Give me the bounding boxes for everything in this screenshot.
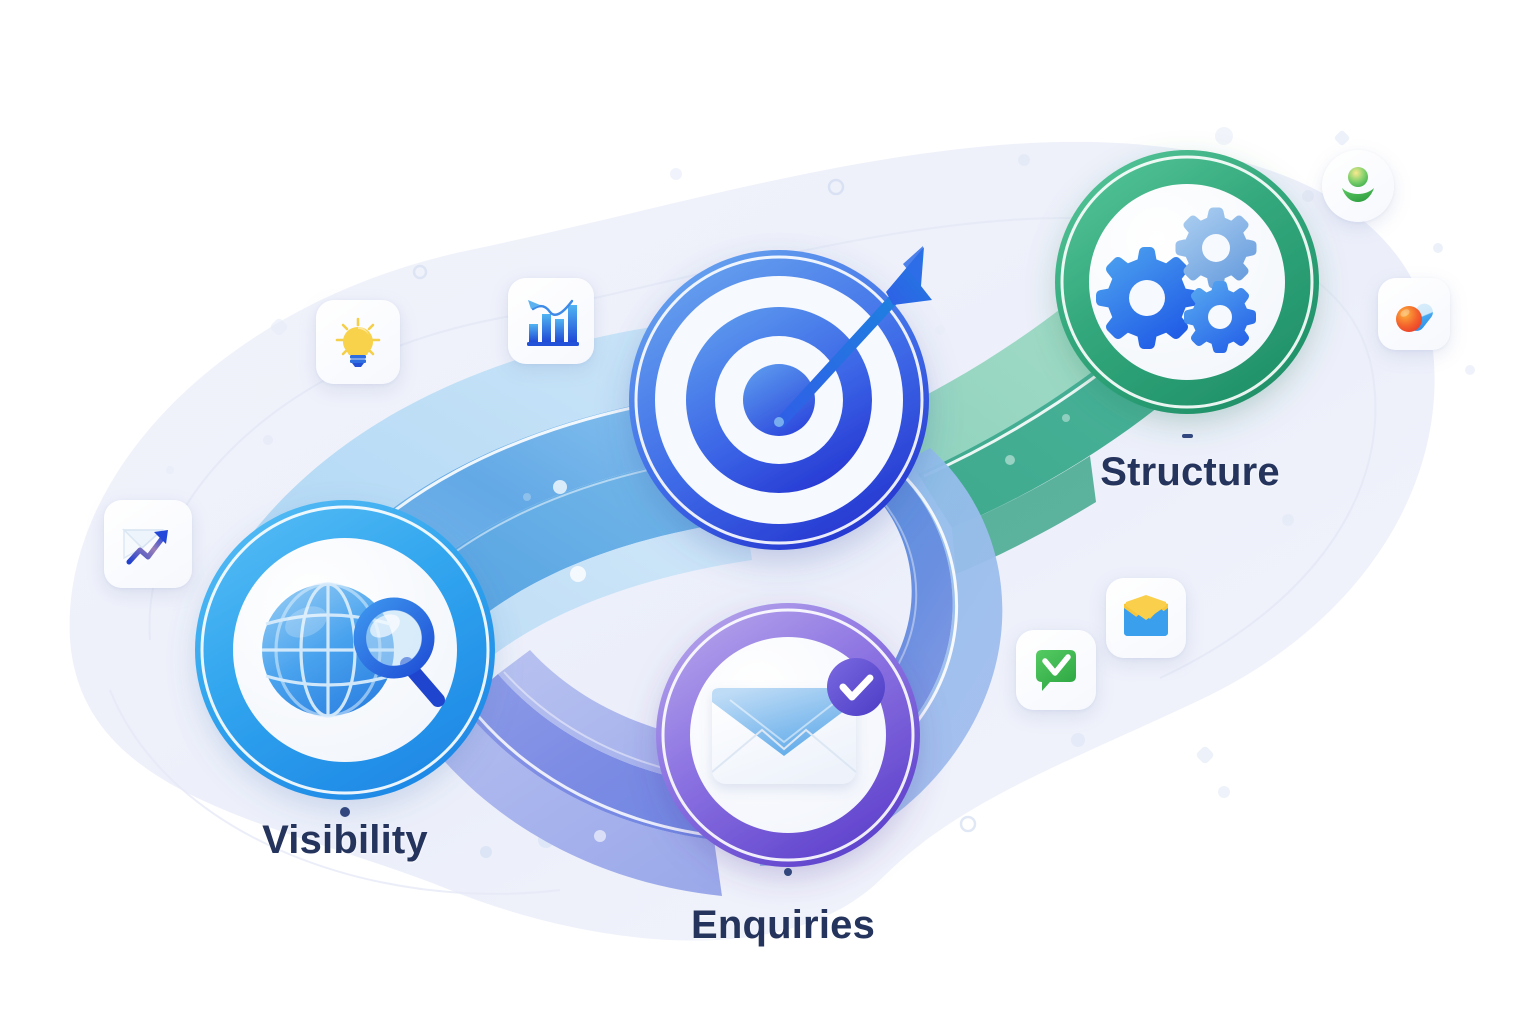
image-envelope-icon <box>1120 592 1172 644</box>
user-pin-tile[interactable] <box>1322 150 1394 222</box>
bar-chart-tile[interactable] <box>508 278 594 364</box>
user-pin-icon <box>1334 162 1382 210</box>
node-label-visibility: Visibility <box>262 818 428 863</box>
lightbulb-tile[interactable] <box>316 300 400 384</box>
illustration-canvas: Visibility Structure Enquiries <box>0 0 1536 1024</box>
capsule-dot-icon <box>1390 290 1438 338</box>
capsule-dot-tile[interactable] <box>1378 278 1450 350</box>
image-envelope-tile[interactable] <box>1106 578 1186 658</box>
node-label-enquiries: Enquiries <box>691 903 875 948</box>
enquiries-label-dot <box>784 868 792 876</box>
mail-growth-tile[interactable] <box>104 500 192 588</box>
node-enquiries[interactable] <box>0 0 1536 1024</box>
mail-growth-arrow-icon <box>118 514 178 574</box>
chat-check-tile[interactable] <box>1016 630 1096 710</box>
check-badge-icon <box>827 658 885 716</box>
node-label-structure: Structure <box>1100 450 1280 495</box>
chat-check-icon <box>1030 644 1082 696</box>
bar-chart-trend-icon <box>522 292 580 350</box>
lightbulb-icon <box>330 314 386 370</box>
